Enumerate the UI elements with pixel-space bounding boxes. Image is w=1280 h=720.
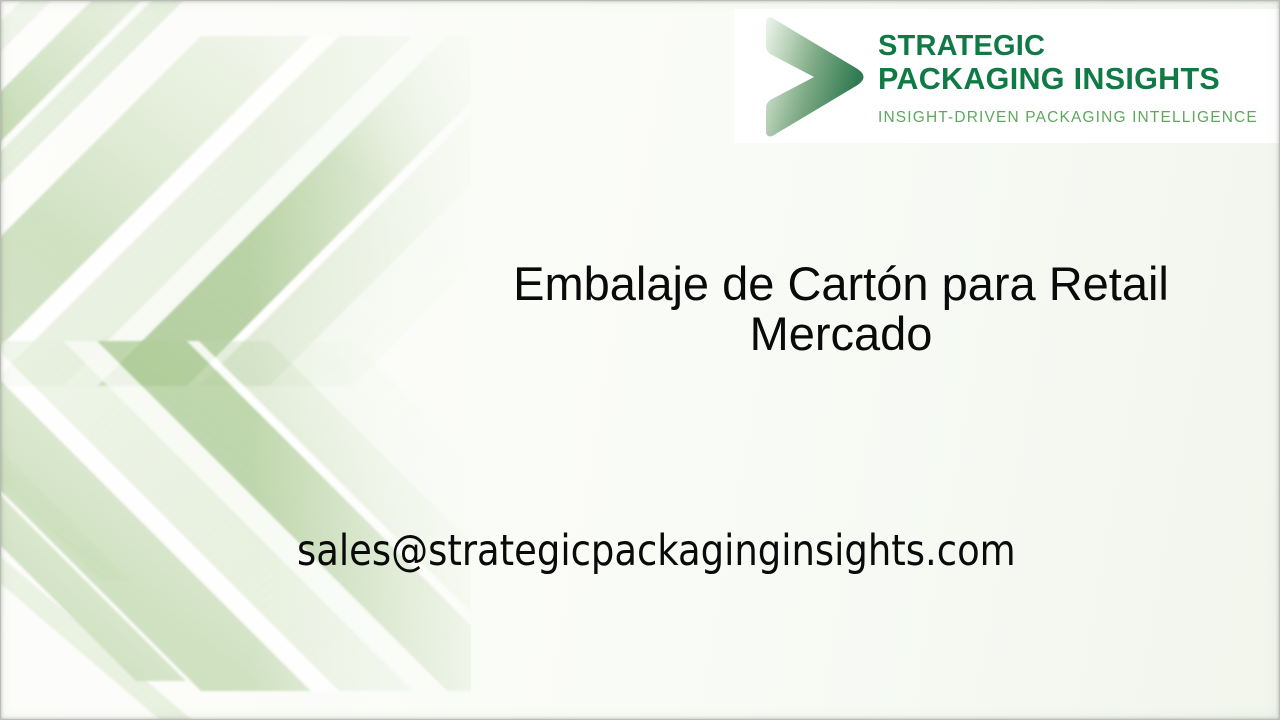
logo-wordmark: STRATEGIC PACKAGING INSIGHTS INSIGHT-DRI…	[878, 26, 1258, 127]
contact-email: sales@strategicpackaginginsights.com	[297, 523, 1016, 579]
page-title: Embalaje de Cartón para Retail Mercado	[441, 259, 1241, 359]
logo-tagline: INSIGHT-DRIVEN PACKAGING INTELLIGENCE	[878, 109, 1258, 127]
chevron-stripes-graphic	[1, 1, 471, 720]
logo-line-1: STRATEGIC	[878, 30, 1258, 63]
chevron-mark-icon	[748, 16, 868, 138]
decoration-fade-overlay	[251, 1, 511, 720]
logo-line-2: PACKAGING INSIGHTS	[878, 63, 1258, 96]
company-logo: STRATEGIC PACKAGING INSIGHTS INSIGHT-DRI…	[734, 9, 1280, 143]
title-slide: STRATEGIC PACKAGING INSIGHTS INSIGHT-DRI…	[0, 0, 1280, 720]
